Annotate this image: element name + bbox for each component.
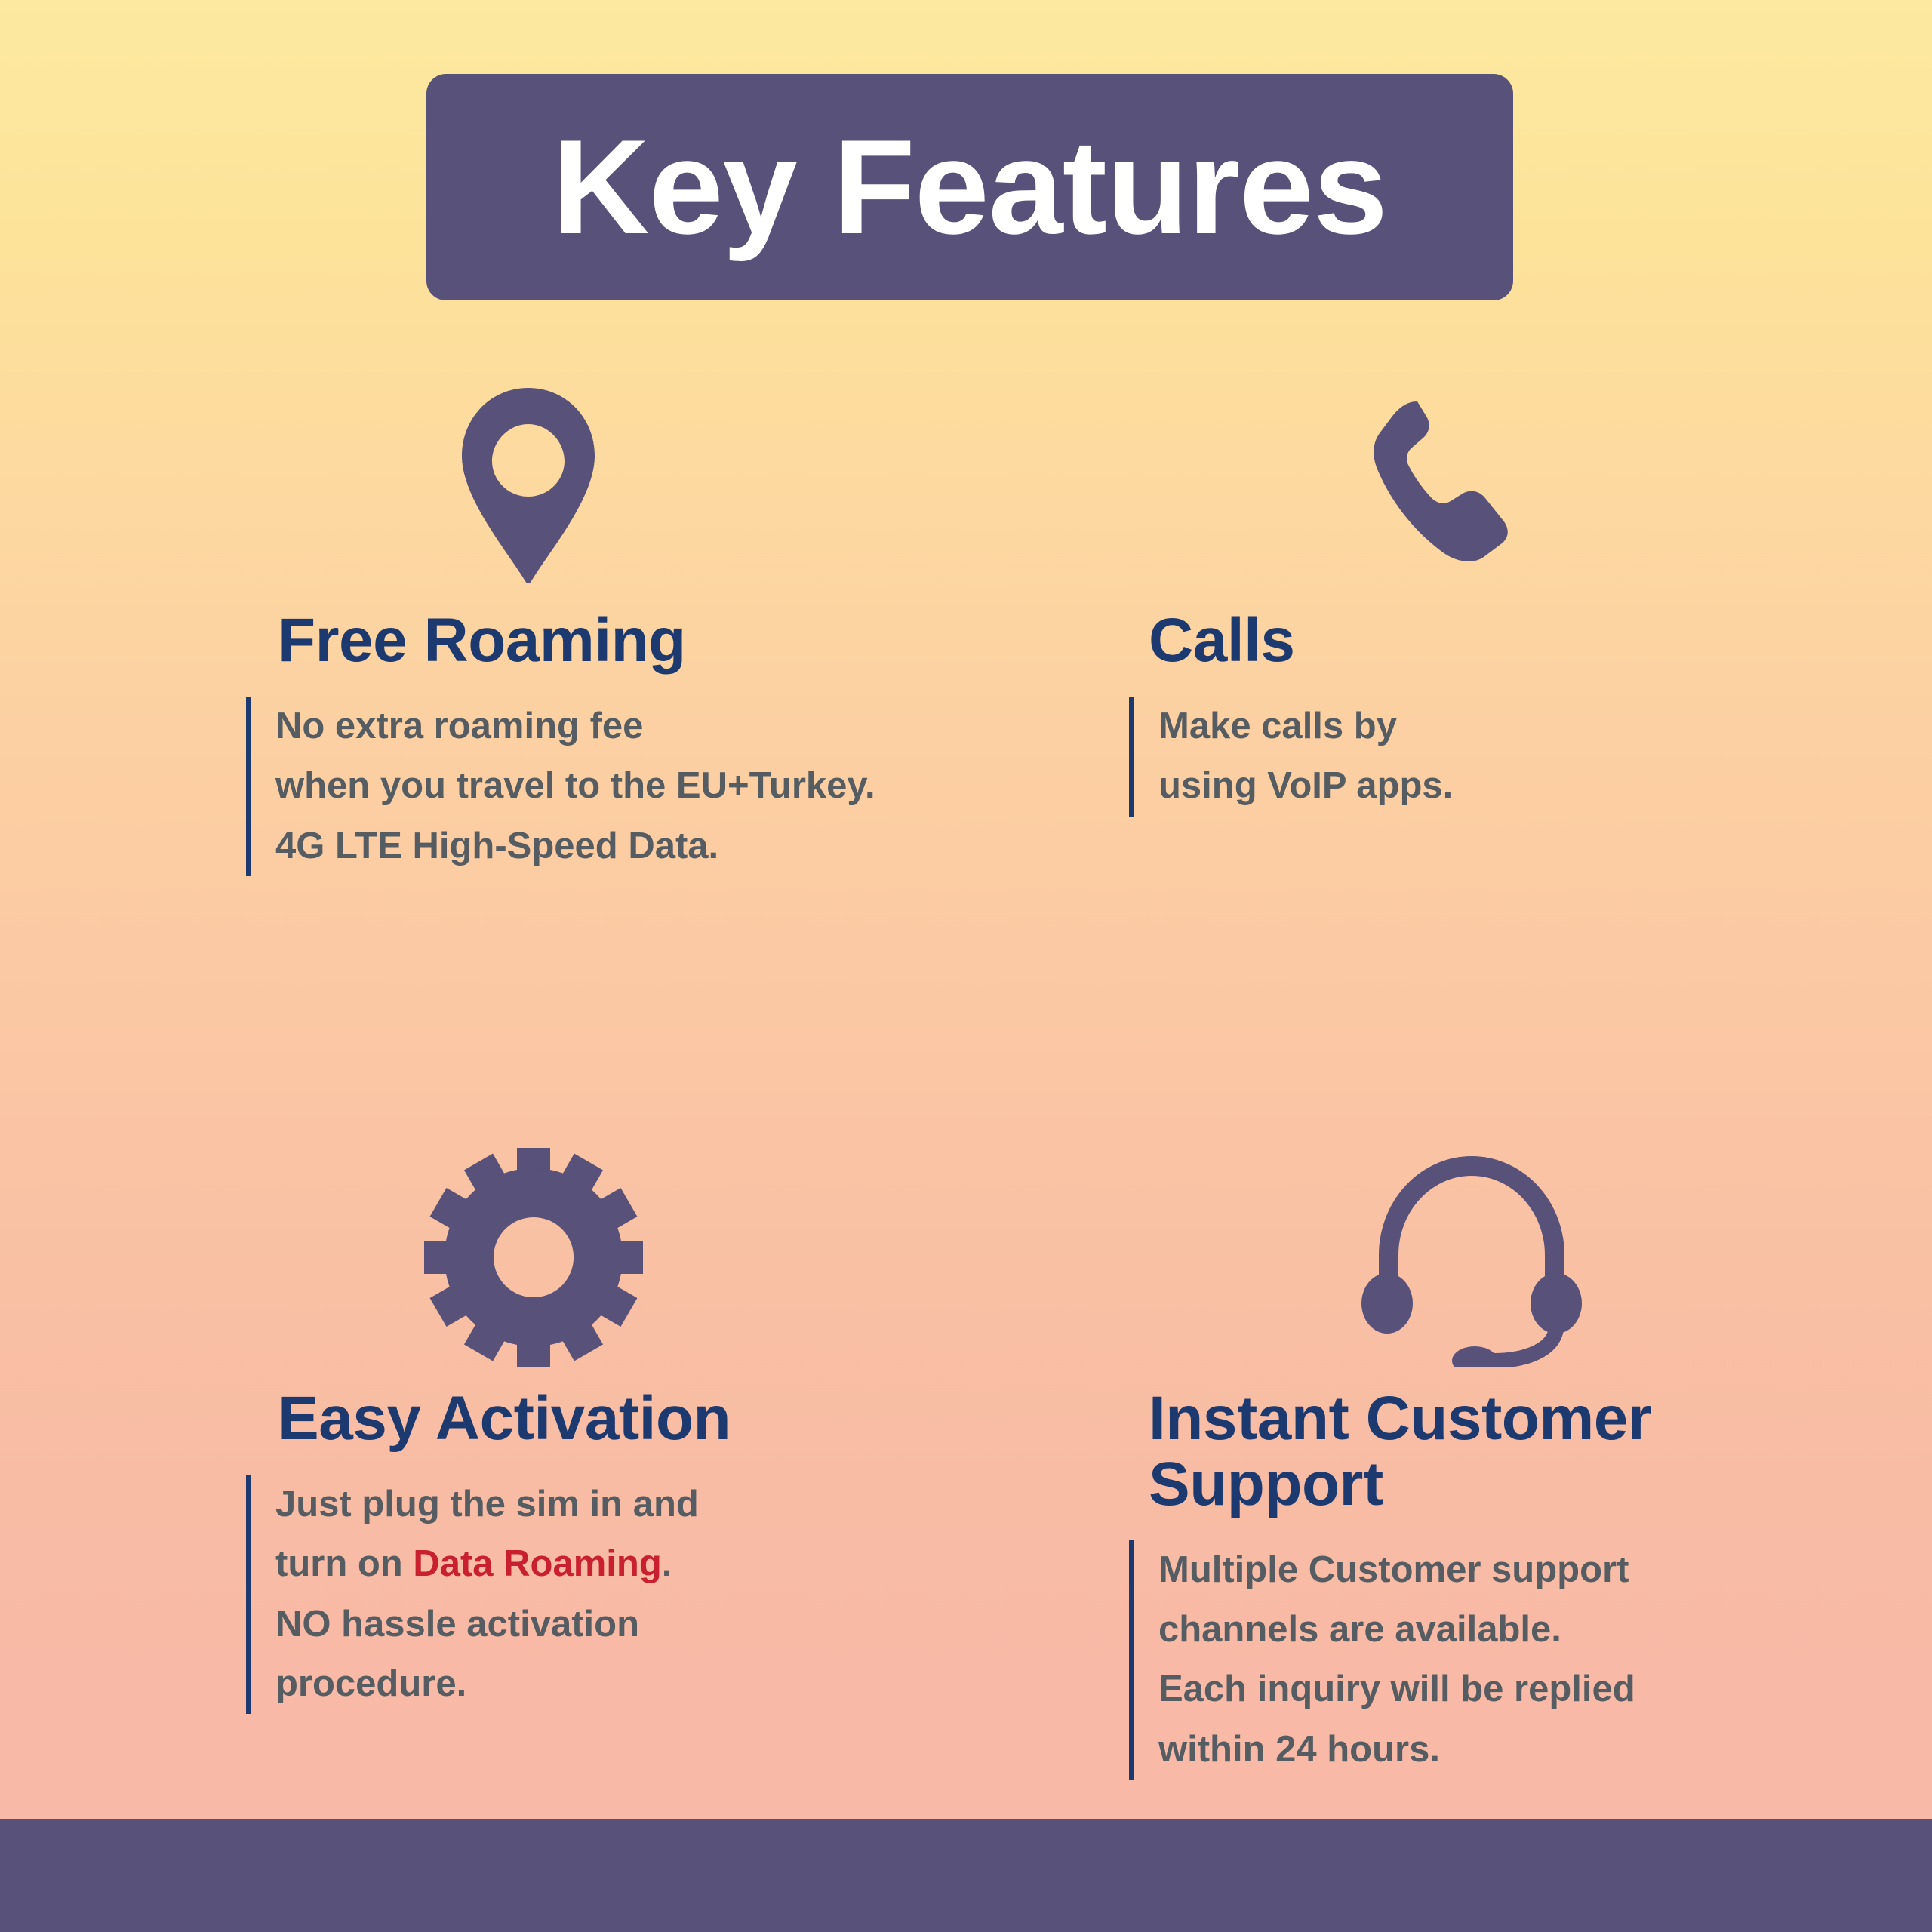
body-line-suffix: . xyxy=(662,1543,672,1584)
body-line: Multiple Customer support xyxy=(1158,1540,1887,1600)
feature-heading: Easy Activation xyxy=(278,1386,921,1452)
phone-icon xyxy=(1363,385,1514,589)
body-line: NO hassle activation xyxy=(275,1595,921,1654)
feature-body: No extra roaming fee when you travel to … xyxy=(246,697,921,876)
feature-card-easy-activation: Easy Activation Just plug the sim in and… xyxy=(0,908,966,1811)
feature-heading: Instant Customer Support xyxy=(1149,1386,1887,1518)
page-title: Key Features xyxy=(552,120,1387,254)
body-line: when you travel to the EU+Turkey. xyxy=(275,756,921,816)
headset-icon xyxy=(1358,1148,1585,1367)
footer-bar xyxy=(0,1819,1932,1932)
feature-body: Just plug the sim in and turn on Data Ro… xyxy=(246,1475,921,1715)
body-line: 4G LTE High-Speed Data. xyxy=(275,817,921,876)
body-line: procedure. xyxy=(275,1654,921,1714)
body-line: No extra roaming fee xyxy=(275,697,921,756)
body-line-prefix: turn on xyxy=(275,1543,413,1584)
body-line: Just plug the sim in and xyxy=(275,1475,921,1534)
gear-icon xyxy=(424,1148,643,1367)
poster-root: Key Features Free Roaming No extra roami… xyxy=(0,0,1932,1932)
body-line: Each inquiry will be replied xyxy=(1158,1660,1887,1719)
feature-card-calls: Calls Make calls by using VoIP apps. xyxy=(966,385,1932,908)
features-grid: Free Roaming No extra roaming fee when y… xyxy=(0,385,1932,1811)
header-banner: Key Features xyxy=(426,74,1513,300)
feature-body: Multiple Customer support channels are a… xyxy=(1129,1540,1887,1780)
body-line: using VoIP apps. xyxy=(1158,756,1887,816)
body-line-with-accent: turn on Data Roaming. xyxy=(275,1534,921,1594)
location-pin-icon xyxy=(453,385,604,589)
feature-card-instant-customer-support: Instant Customer Support Multiple Custom… xyxy=(966,908,1932,1811)
feature-body: Make calls by using VoIP apps. xyxy=(1129,697,1887,817)
data-roaming-accent: Data Roaming xyxy=(413,1543,661,1584)
feature-heading: Free Roaming xyxy=(278,608,921,674)
body-line: channels are available. xyxy=(1158,1600,1887,1660)
body-line: Make calls by xyxy=(1158,697,1887,756)
feature-card-free-roaming: Free Roaming No extra roaming fee when y… xyxy=(0,385,966,908)
body-line: within 24 hours. xyxy=(1158,1720,1887,1780)
feature-heading: Calls xyxy=(1149,608,1887,674)
